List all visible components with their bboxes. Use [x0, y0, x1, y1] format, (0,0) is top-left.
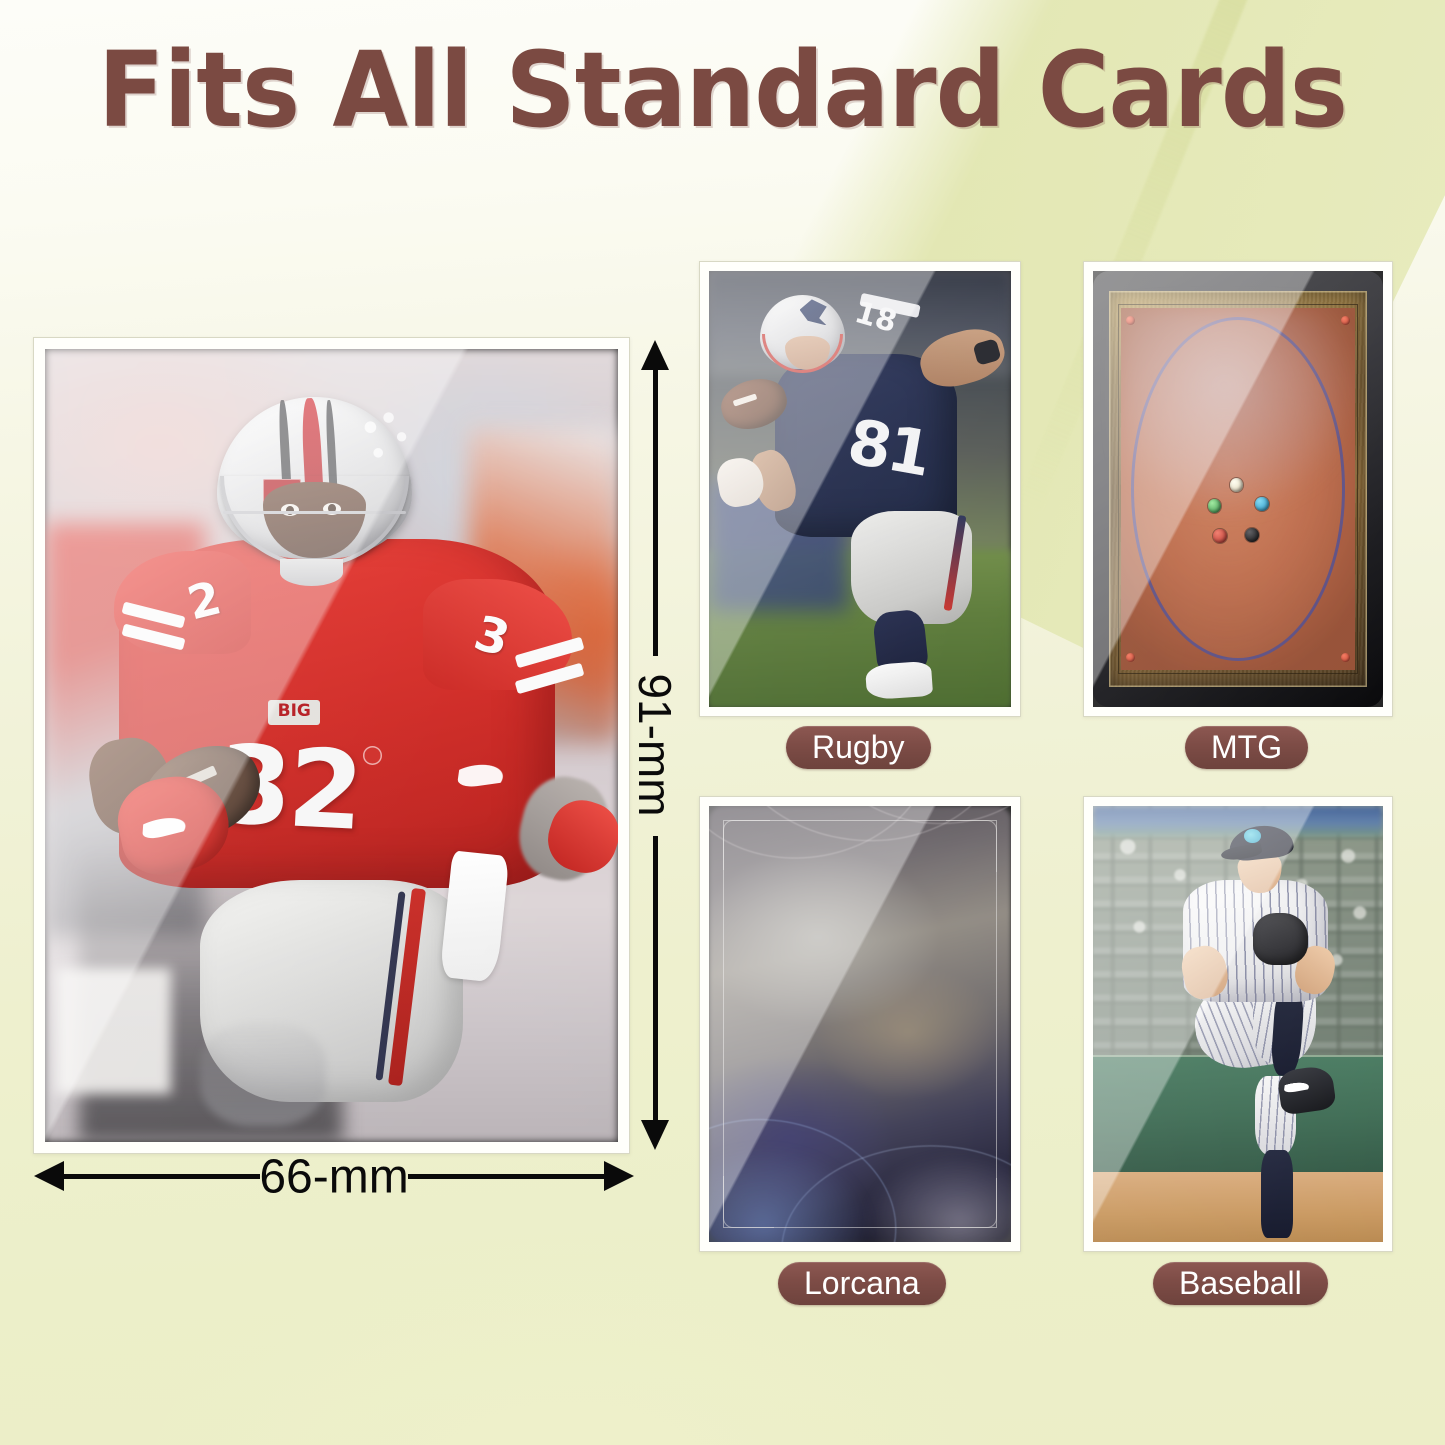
card-corner-ornament	[723, 1176, 774, 1228]
card-football-large: 2 3 BIG 32	[33, 337, 630, 1154]
player-shoe	[865, 661, 934, 700]
card-label-baseball: Baseball	[1153, 1262, 1328, 1305]
infield-dirt	[1093, 1172, 1383, 1242]
card-mtg-art	[1093, 271, 1383, 707]
dimension-line-lower	[653, 836, 658, 1124]
corner-dot-icon	[1126, 653, 1135, 662]
card-lorcana-art	[709, 806, 1011, 1242]
dimension-line-right	[408, 1174, 608, 1179]
card-label-lorcana: Lorcana	[778, 1262, 946, 1305]
player-sock-lower	[1261, 1150, 1293, 1237]
leg-shadow	[200, 1023, 326, 1126]
helmet-decals	[360, 408, 412, 471]
card-baseball	[1083, 796, 1393, 1252]
outfield-wall	[1093, 1057, 1383, 1175]
card-lorcana	[699, 796, 1021, 1252]
arrow-head-right-icon	[604, 1161, 634, 1191]
mana-orb-red-icon	[1213, 529, 1226, 543]
card-football-large-photo: 2 3 BIG 32	[45, 349, 618, 1142]
dimension-height: 91-mm	[643, 340, 667, 1150]
dimension-height-label: 91-mm	[628, 673, 682, 816]
dimension-line-upper	[653, 366, 658, 656]
card-label-rugby: Rugby	[786, 726, 931, 769]
mana-orb-green-icon	[1208, 499, 1221, 513]
card-ornamental-border	[723, 820, 998, 1228]
card-rugby: 18 81	[699, 261, 1021, 717]
baseball-glove-icon	[1253, 913, 1308, 965]
infographic-canvas: Fits All Standard Cards 2 3 BIG 32	[0, 0, 1445, 1445]
arrow-head-down-icon	[641, 1120, 669, 1150]
corner-dot-icon	[1341, 653, 1350, 662]
card-baseball-photo	[1093, 806, 1383, 1242]
card-mtg	[1083, 261, 1393, 717]
dimension-line-left	[60, 1174, 260, 1179]
helmet-facemask-bar	[223, 511, 406, 514]
dimension-width: 66-mm	[34, 1160, 634, 1194]
decorative-diagonal-stripe-bottom-right-2	[1376, 1312, 1445, 1445]
mana-orb-black-icon	[1245, 528, 1258, 542]
card-label-mtg: MTG	[1185, 726, 1308, 769]
sideline-cooler	[56, 968, 171, 1095]
page-title: Fits All Standard Cards	[43, 36, 1401, 145]
stadium-upper-railing	[1093, 806, 1383, 837]
card-rugby-photo: 18 81	[709, 271, 1011, 707]
helmet-chinstrap	[280, 559, 343, 586]
conference-logo: BIG	[268, 700, 320, 725]
mana-orb-blue-icon	[1255, 497, 1268, 511]
mana-orb-white-icon	[1230, 478, 1243, 492]
decorative-soft-glow-bottom	[120, 1225, 1020, 1445]
dimension-width-label: 66-mm	[255, 1150, 412, 1205]
card-corner-ornament	[946, 820, 997, 872]
